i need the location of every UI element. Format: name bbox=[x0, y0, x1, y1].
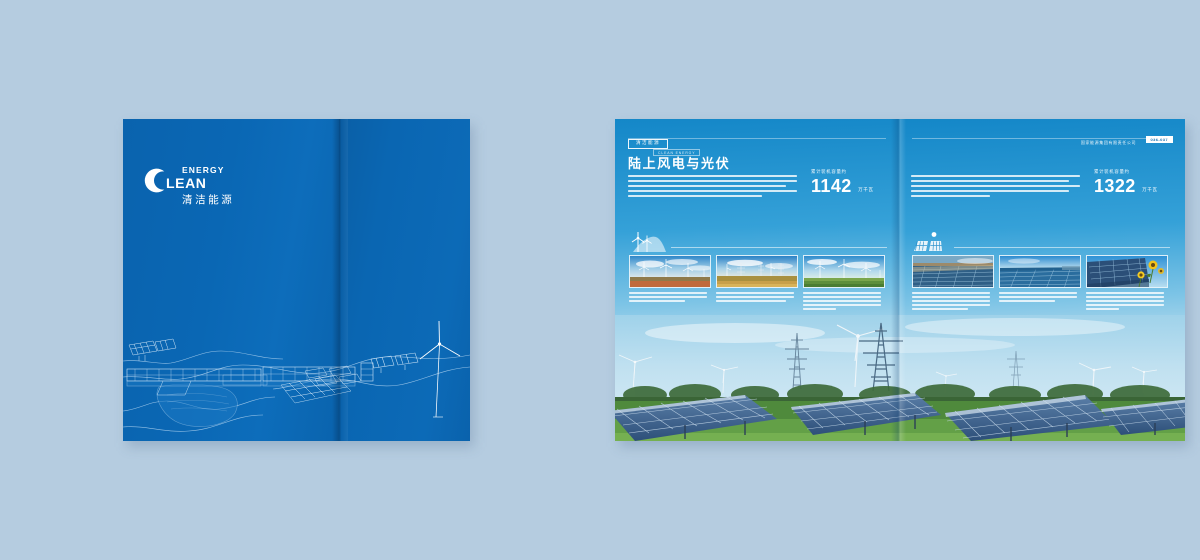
stat-label: 累计装机容量约 bbox=[1094, 169, 1158, 175]
running-header-right: 国家能源集团有限责任公司 036-037 bbox=[1081, 131, 1173, 142]
logo-energy-text: ENERGY bbox=[182, 165, 225, 175]
thumbnail-caption bbox=[629, 292, 711, 302]
thumbnail-caption bbox=[803, 292, 885, 310]
logo-chinese-text: 清洁能源 bbox=[182, 192, 234, 207]
category-wind: 陆上风电 bbox=[629, 231, 887, 258]
thumbnail-row-solar: 光伏电站照片说明一 光伏电站 bbox=[912, 255, 1170, 312]
solar-array-aerial-photo: 光伏电站照片说明一 bbox=[912, 255, 994, 288]
header-rule-left bbox=[628, 138, 886, 139]
cover-spread: ENERGY LEAN 清洁能源 bbox=[123, 119, 470, 441]
stat-wind: 累计装机容量约 1142 万千瓦 bbox=[811, 169, 874, 196]
thumbnail-item: 光伏电站照片说明一 bbox=[912, 255, 994, 312]
thumbnail-item: 光伏电站照片说明二 bbox=[999, 255, 1081, 312]
logo-lean-text: LEAN bbox=[166, 175, 207, 191]
stat-label: 累计装机容量约 bbox=[811, 169, 874, 175]
header-rule-right bbox=[912, 138, 1170, 139]
running-header-left: 清洁能源 CLEAN ENERGY bbox=[628, 131, 668, 142]
section-tag-cn: 清洁能源 bbox=[636, 141, 660, 147]
intro-paragraph-left bbox=[628, 175, 800, 200]
c-crescent-logo-icon bbox=[142, 167, 169, 194]
page-title: 陆上风电与光伏 bbox=[628, 153, 730, 172]
intro-paragraph-right bbox=[911, 175, 1083, 200]
stat-value: 1142 bbox=[811, 177, 852, 196]
inner-spread: 清洁能源 CLEAN ENERGY 国家能源集团有限责任公司 036-037 陆… bbox=[615, 119, 1185, 441]
stat-value: 1322 bbox=[1094, 177, 1136, 196]
thumbnail-item: 光伏电站照片说明三 bbox=[1086, 255, 1168, 312]
solar-panel-icon bbox=[912, 231, 950, 253]
thumbnail-item: 风电场照片说明三 bbox=[803, 255, 885, 312]
stat-unit: 万千瓦 bbox=[858, 187, 874, 196]
wind-turbine-icon bbox=[629, 231, 667, 253]
solar-panel-sunflower-photo: 光伏电站照片说明三 bbox=[1086, 255, 1168, 288]
cover-lineart-illustration bbox=[123, 315, 470, 441]
category-solar: 光伏发电 bbox=[912, 231, 1170, 258]
wind-farm-desert-photo: 风电场照片说明一 bbox=[629, 255, 711, 288]
company-name: 国家能源集团有限责任公司 bbox=[1081, 140, 1136, 145]
thumbnail-row-wind: 风电场照片说明一 bbox=[629, 255, 887, 312]
stat-solar: 累计装机容量约 1322 万千瓦 bbox=[1094, 169, 1158, 196]
section-tag: 清洁能源 CLEAN ENERGY bbox=[628, 139, 668, 149]
thumbnail-caption bbox=[716, 292, 798, 302]
thumbnail-item: 风电场照片说明二 bbox=[716, 255, 798, 312]
solar-floating-water-photo: 光伏电站照片说明二 bbox=[999, 255, 1081, 288]
thumbnail-caption bbox=[1086, 292, 1168, 310]
thumbnail-caption bbox=[999, 292, 1081, 302]
category-rule bbox=[954, 247, 1170, 248]
stat-unit: 万千瓦 bbox=[1142, 187, 1158, 196]
thumbnail-caption bbox=[912, 292, 994, 310]
brand-logo: ENERGY LEAN 清洁能源 bbox=[142, 155, 267, 215]
wind-farm-grassland-photo: 风电场照片说明二 bbox=[716, 255, 798, 288]
thumbnail-item: 风电场照片说明一 bbox=[629, 255, 711, 312]
hero-photo-solar-wind-farm: solar-farm-with-wind-turbines-photo bbox=[615, 315, 1185, 441]
category-rule bbox=[671, 247, 887, 248]
wind-farm-green-field-photo: 风电场照片说明三 bbox=[803, 255, 885, 288]
